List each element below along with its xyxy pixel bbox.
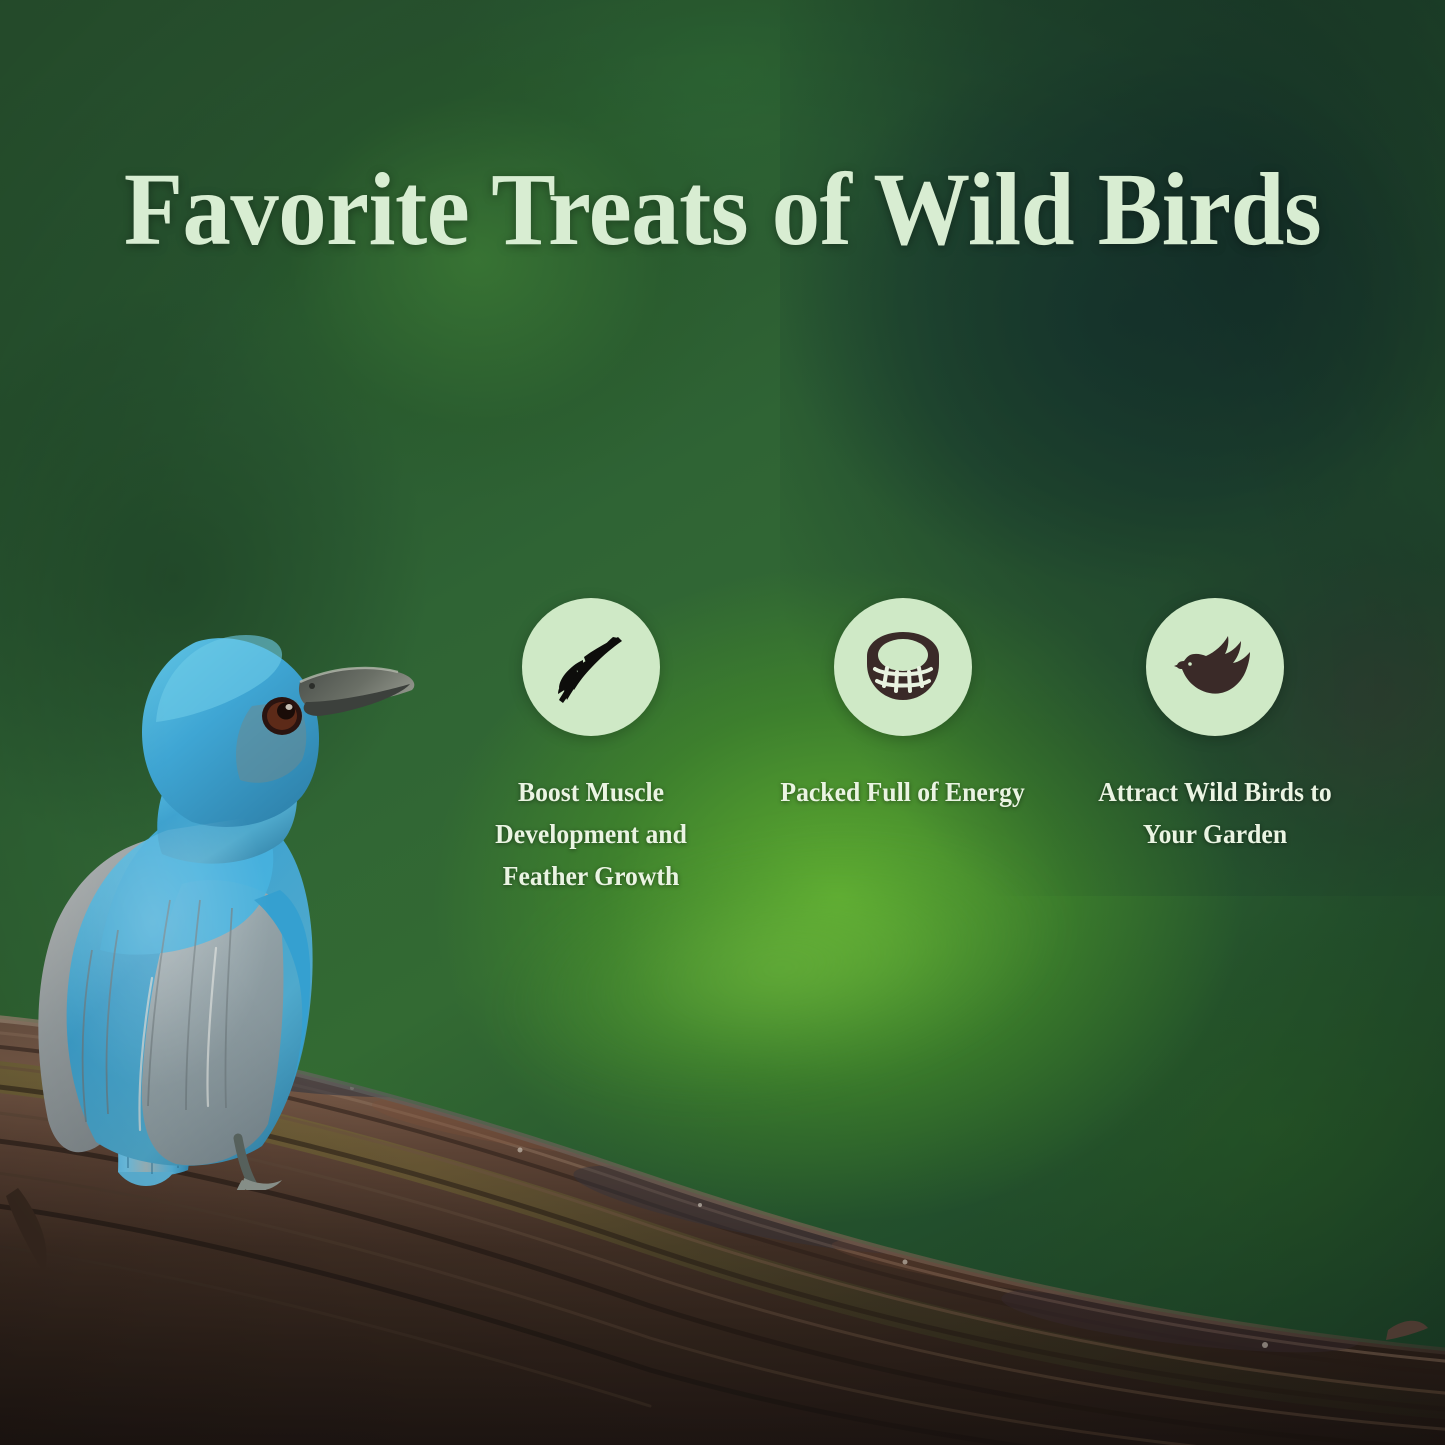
feature-label-1: Boost Muscle Development and Feather Gro… bbox=[463, 772, 720, 898]
promo-banner: Favorite Treats of Wild Birds bbox=[0, 0, 1445, 1445]
feature-item-boost-muscle: Boost Muscle Development and Feather Gro… bbox=[455, 598, 727, 898]
feature-label-2: Packed Full of Energy bbox=[781, 772, 1025, 814]
feather-icon bbox=[548, 624, 634, 710]
feature-list: Boost Muscle Development and Feather Gro… bbox=[455, 598, 1385, 898]
feature-item-attract-birds: Attract Wild Birds to Your Garden bbox=[1079, 598, 1351, 856]
feature-badge-3 bbox=[1146, 598, 1284, 736]
feature-label-3: Attract Wild Birds to Your Garden bbox=[1087, 772, 1344, 856]
feature-badge-1 bbox=[522, 598, 660, 736]
bird-icon bbox=[1171, 623, 1259, 711]
feature-badge-2 bbox=[834, 598, 972, 736]
feature-item-packed-energy: Packed Full of Energy bbox=[767, 598, 1039, 814]
nest-icon bbox=[860, 624, 946, 710]
page-title: Favorite Treats of Wild Birds bbox=[51, 158, 1395, 262]
